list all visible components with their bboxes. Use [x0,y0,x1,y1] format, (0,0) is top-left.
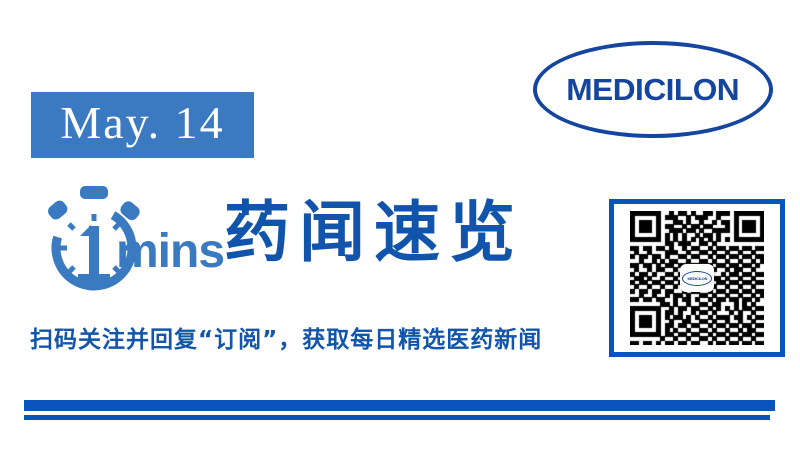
call-to-action-text: 扫码关注并回复“订阅”，获取每日精选医药新闻 [30,328,542,353]
qr-center-logo: MEDICILON [680,264,714,292]
brand-logo: MEDICILON [533,41,773,138]
date-badge-text: May. 14 [60,100,224,150]
qr-center-logo-ellipse: MEDICILON [682,271,712,286]
qr-code-matrix: MEDICILON [630,211,764,345]
mins-label: mins [116,228,224,276]
footer-rule-thin [24,415,770,420]
footer-rule-thick [24,400,775,411]
date-badge: May. 14 [31,92,254,158]
qr-code-block[interactable]: MEDICILON [609,199,785,357]
poster-canvas: May. 14 MEDICILON [0,0,800,468]
headline-text: 药闻速览 [224,199,524,265]
brand-logo-wordmark: MEDICILON [533,72,773,108]
qr-center-logo-text: MEDICILON [687,276,707,281]
brand-logo-wordmark-text: MEDICILON [567,72,740,108]
